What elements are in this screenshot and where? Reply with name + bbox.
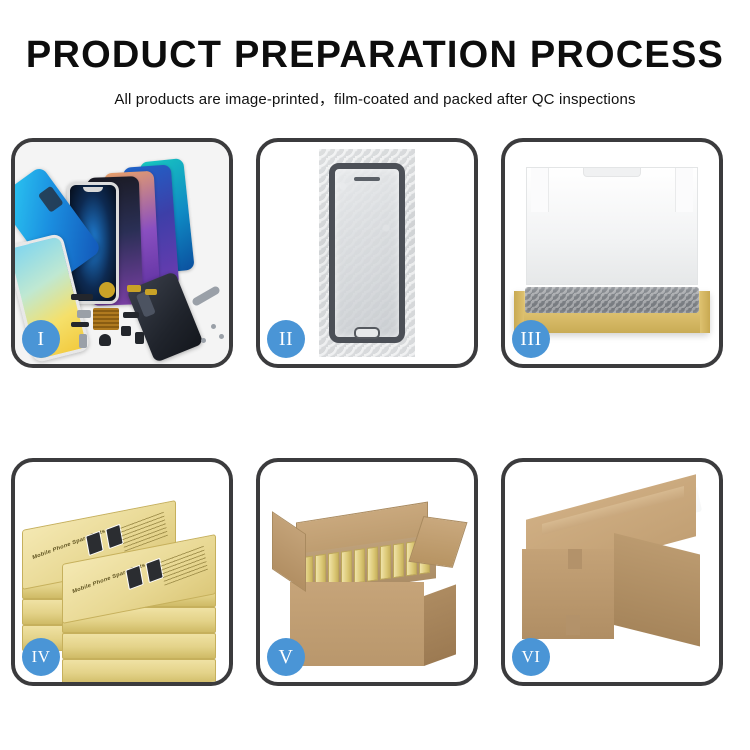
part-screw-2-icon bbox=[219, 334, 224, 339]
stacked-box bbox=[62, 633, 216, 659]
packed-box-item bbox=[393, 542, 404, 578]
part-vibrator-icon bbox=[135, 332, 144, 344]
product-preparation-infographic: PRODUCT PREPARATION PROCESS All products… bbox=[0, 0, 750, 750]
step-badge-4: IV bbox=[22, 638, 60, 676]
process-step-panel-3: III bbox=[501, 138, 723, 368]
step-badge-1: I bbox=[22, 320, 60, 358]
step-badge-6: VI bbox=[512, 638, 550, 676]
carton-side-face bbox=[614, 533, 700, 646]
part-ribbon-icon bbox=[123, 312, 139, 318]
header: PRODUCT PREPARATION PROCESS All products… bbox=[0, 0, 750, 109]
part-sim-tray-icon bbox=[79, 334, 87, 348]
earpiece-slot-icon bbox=[354, 177, 380, 181]
mailer-box-tab bbox=[583, 168, 641, 177]
page-subtitle: All products are image-printed，film-coat… bbox=[0, 74, 750, 109]
part-button-icon bbox=[145, 289, 157, 295]
mailer-box-flap-left bbox=[531, 168, 549, 212]
wrapped-phone-screen bbox=[329, 163, 405, 343]
part-chip-array-icon bbox=[93, 308, 119, 330]
part-coil-icon bbox=[99, 282, 115, 298]
mailer-box bbox=[514, 167, 710, 347]
process-step-panel-1: I bbox=[11, 138, 233, 368]
part-camera-icon bbox=[121, 326, 131, 336]
part-screw-3-icon bbox=[201, 338, 206, 343]
open-shipping-carton bbox=[272, 496, 462, 666]
part-screw-icon bbox=[211, 324, 216, 329]
stacked-box bbox=[62, 659, 216, 682]
process-step-panel-2: II bbox=[256, 138, 478, 368]
part-cable-icon bbox=[71, 322, 89, 327]
mailer-box-lid bbox=[526, 167, 698, 285]
process-step-panel-5: V bbox=[256, 458, 478, 686]
box-stack: Mobile Phone Spare Parts Mobile Phone Sp… bbox=[22, 485, 222, 667]
step-badge-3: III bbox=[512, 320, 550, 358]
packed-box-item bbox=[380, 544, 391, 580]
carton-seam-top bbox=[568, 549, 582, 569]
part-flex-small-icon bbox=[127, 285, 141, 292]
carton-seam-bottom bbox=[566, 615, 580, 635]
packed-box-item bbox=[354, 548, 365, 584]
box-artwork-screen-icon bbox=[125, 565, 143, 590]
box-spec-lines bbox=[160, 545, 208, 586]
box-artwork-screen-icon bbox=[85, 531, 103, 556]
step-badge-5: V bbox=[267, 638, 305, 676]
page-title: PRODUCT PREPARATION PROCESS bbox=[0, 0, 750, 74]
process-step-panel-4: Mobile Phone Spare Parts Mobile Phone Sp… bbox=[11, 458, 233, 686]
packed-box-item bbox=[341, 550, 352, 586]
sealed-shipping-carton bbox=[520, 493, 704, 659]
packed-box-item bbox=[367, 546, 378, 582]
process-step-panel-6: VI bbox=[501, 458, 723, 686]
step-badge-2: II bbox=[267, 320, 305, 358]
part-speaker-icon bbox=[99, 334, 111, 346]
carton-front-face bbox=[290, 582, 424, 666]
carton-right-face bbox=[424, 584, 456, 666]
packed-screen-inside-box bbox=[525, 287, 699, 313]
part-bracket-icon bbox=[77, 310, 91, 318]
part-tool-tweezers-icon bbox=[191, 285, 221, 307]
mailer-box-flap-right bbox=[675, 168, 693, 212]
part-connector-icon bbox=[71, 294, 93, 300]
process-step-grid: I II bbox=[11, 138, 723, 686]
